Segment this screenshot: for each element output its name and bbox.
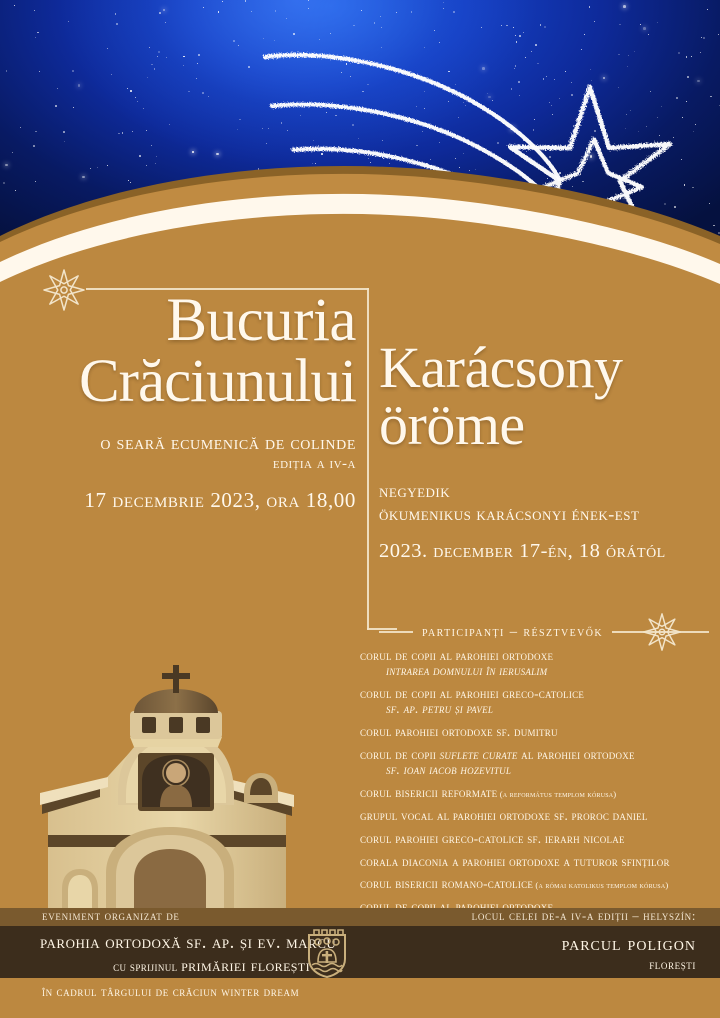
hungarian-subtitle-line2: Ökumenikus karácsonyi ének-est: [379, 503, 709, 527]
romanian-title-line2: Crăciunului: [20, 353, 356, 412]
participant-line1: Corul bisericii Reformate (a református …: [360, 785, 716, 800]
participant-line1: Corul de copii Suflete curate al parohie…: [360, 747, 716, 762]
participant-item: Corul de copii Suflete curate al parohie…: [360, 747, 716, 778]
participant-line2: Sf. Ap. Petru și Pavel: [360, 701, 716, 716]
hungarian-subtitle-line1: Negyedik: [379, 480, 709, 504]
romanian-edition: Ediția a IV-a: [20, 456, 356, 473]
orthodox-church-icon: [30, 665, 320, 935]
romanian-subtitle: O seară ecumenică de colinde: [100, 433, 356, 454]
participant-item: Corul parohiei greco-catolice Sf. Ierarh…: [360, 831, 716, 846]
participant-line1: Corul de Copii al Parohiei Greco-Catolic…: [360, 686, 716, 701]
frame-rule-vertical: [367, 288, 369, 630]
market-note: în cadrul Târgului de Crăciun Winter Dre…: [42, 984, 299, 1000]
romanian-date: 17 decembrie 2023, ora 18,00: [20, 488, 356, 513]
support-label: cu sprijinul: [113, 960, 177, 974]
hungarian-date: 2023. december 17-én, 18 órától: [379, 540, 709, 563]
participant-item: Corul de copii al parohiei ortodoxeIntra…: [360, 648, 716, 679]
participant-item: Corul bisericii Reformate (a református …: [360, 785, 716, 800]
romanian-title-block: Bucuria Crăciunului O seară ecumenică de…: [20, 292, 356, 513]
participant-line1: Grupul vocal al parohiei ortodoxe Sf. Pr…: [360, 808, 716, 823]
organizer-label: Eveniment organizat de: [42, 909, 180, 924]
participant-line1: Corul parohiei greco-catolice Sf. Ierarh…: [360, 831, 716, 846]
participant-hungarian-note: (a római katolikus templom kórusa): [533, 880, 668, 890]
christmas-concert-poster: Bucuria Crăciunului O seară ecumenică de…: [0, 0, 720, 1018]
support-name: Primăriei Florești: [181, 955, 310, 975]
hungarian-title-line1: Karácsony: [379, 340, 709, 397]
hungarian-title-block: Karácsony öröme Negyedik Ökumenikus kará…: [379, 340, 709, 563]
participant-item: Corul de Copii al Parohiei Greco-Catolic…: [360, 686, 716, 717]
participant-line2: Intrarea Domnului în Ierusalim: [360, 663, 716, 678]
organizer-name: Parohia Ortodoxă Sf. Ap. și Ev. Marcu: [40, 933, 310, 954]
participant-line1: Corul de copii al parohiei ortodoxe: [360, 648, 716, 663]
participant-item: Corul bisericii Romano-catolice (a római…: [360, 876, 716, 891]
participant-line1: Corul parohiei ortodoxe Sf. Dumitru: [360, 724, 716, 739]
heading-rule-left: [379, 631, 413, 633]
participants-heading: Participanți – Résztvevők: [379, 622, 709, 642]
romanian-title-line1: Bucuria: [20, 292, 356, 351]
participant-item: Grupul vocal al parohiei ortodoxe Sf. Pr…: [360, 808, 716, 823]
participants-list: Corul de copii al parohiei ortodoxeIntra…: [360, 648, 716, 937]
participant-item: Corala Diaconia a parohiei ortodoxe a Tu…: [360, 854, 716, 869]
participant-line2: Sf. Ioan Iacob Hozevitul: [360, 762, 716, 777]
floresti-coat-of-arms-icon: [306, 929, 348, 979]
venue-city: Florești: [649, 957, 696, 973]
venue-name: Parcul Poligon: [562, 933, 696, 956]
participant-line1: Corul bisericii Romano-catolice (a római…: [360, 876, 716, 891]
participant-hungarian-note: (a református templom kórusa): [497, 789, 616, 799]
hungarian-title-line2: öröme: [379, 397, 709, 454]
venue-label: Locul celei de-a IV-a ediții – Helyszín:: [472, 909, 696, 924]
participants-heading-label: Participanți – Résztvevők: [422, 624, 603, 641]
support-line: cu sprijinul Primăriei Florești: [40, 955, 310, 976]
participant-line1: Corala Diaconia a parohiei ortodoxe a Tu…: [360, 854, 716, 869]
heading-rule-right: [612, 631, 709, 633]
participant-item: Corul parohiei ortodoxe Sf. Dumitru: [360, 724, 716, 739]
